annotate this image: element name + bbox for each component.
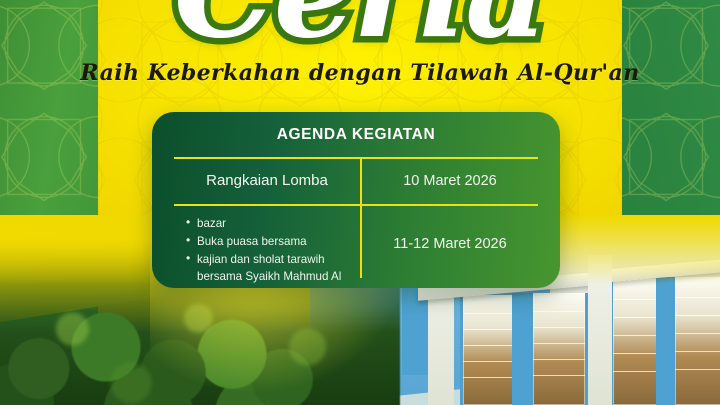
building-blue-mullion <box>512 293 530 405</box>
list-item: bazar <box>197 215 372 232</box>
event-poster: Ceria Raih Keberkahan dengan Tilawah Al-… <box>0 0 720 405</box>
table-middle-divider <box>174 204 538 206</box>
agenda-date-label: 11-12 Maret 2026 <box>393 236 506 252</box>
list-item: kajian dan sholat tarawih bersama Syaikh… <box>197 251 372 288</box>
table-row: bazar Buka puasa bersama kajian dan shol… <box>174 209 376 278</box>
table-row: 10 Maret 2026 <box>362 157 538 204</box>
building-blue-mullion <box>656 277 672 405</box>
table-row: 11-12 Maret 2026 <box>362 209 538 278</box>
page-title: Ceria <box>174 0 546 56</box>
agenda-card: AGENDA KEGIATAN Rangkaian Lomba 10 Maret… <box>152 112 560 288</box>
agenda-date-label: 10 Maret 2026 <box>403 173 497 189</box>
building-window <box>610 279 662 405</box>
agenda-table: Rangkaian Lomba 10 Maret 2026 bazar Buka… <box>174 157 538 278</box>
poster-title-wrap: Ceria <box>0 0 720 56</box>
building-window <box>460 295 518 405</box>
poster-tagline: Raih Keberkahan dengan Tilawah Al-Qur'an <box>0 60 720 86</box>
list-item: Buka puasa bersama <box>197 233 372 250</box>
agenda-activity-list: bazar Buka puasa bersama kajian dan shol… <box>186 215 372 288</box>
table-row: Rangkaian Lomba <box>174 157 360 204</box>
agenda-activity-label: Rangkaian Lomba <box>206 172 328 189</box>
building-window <box>672 277 720 405</box>
building-window <box>530 293 588 405</box>
agenda-heading: AGENDA KEGIATAN <box>152 112 560 144</box>
